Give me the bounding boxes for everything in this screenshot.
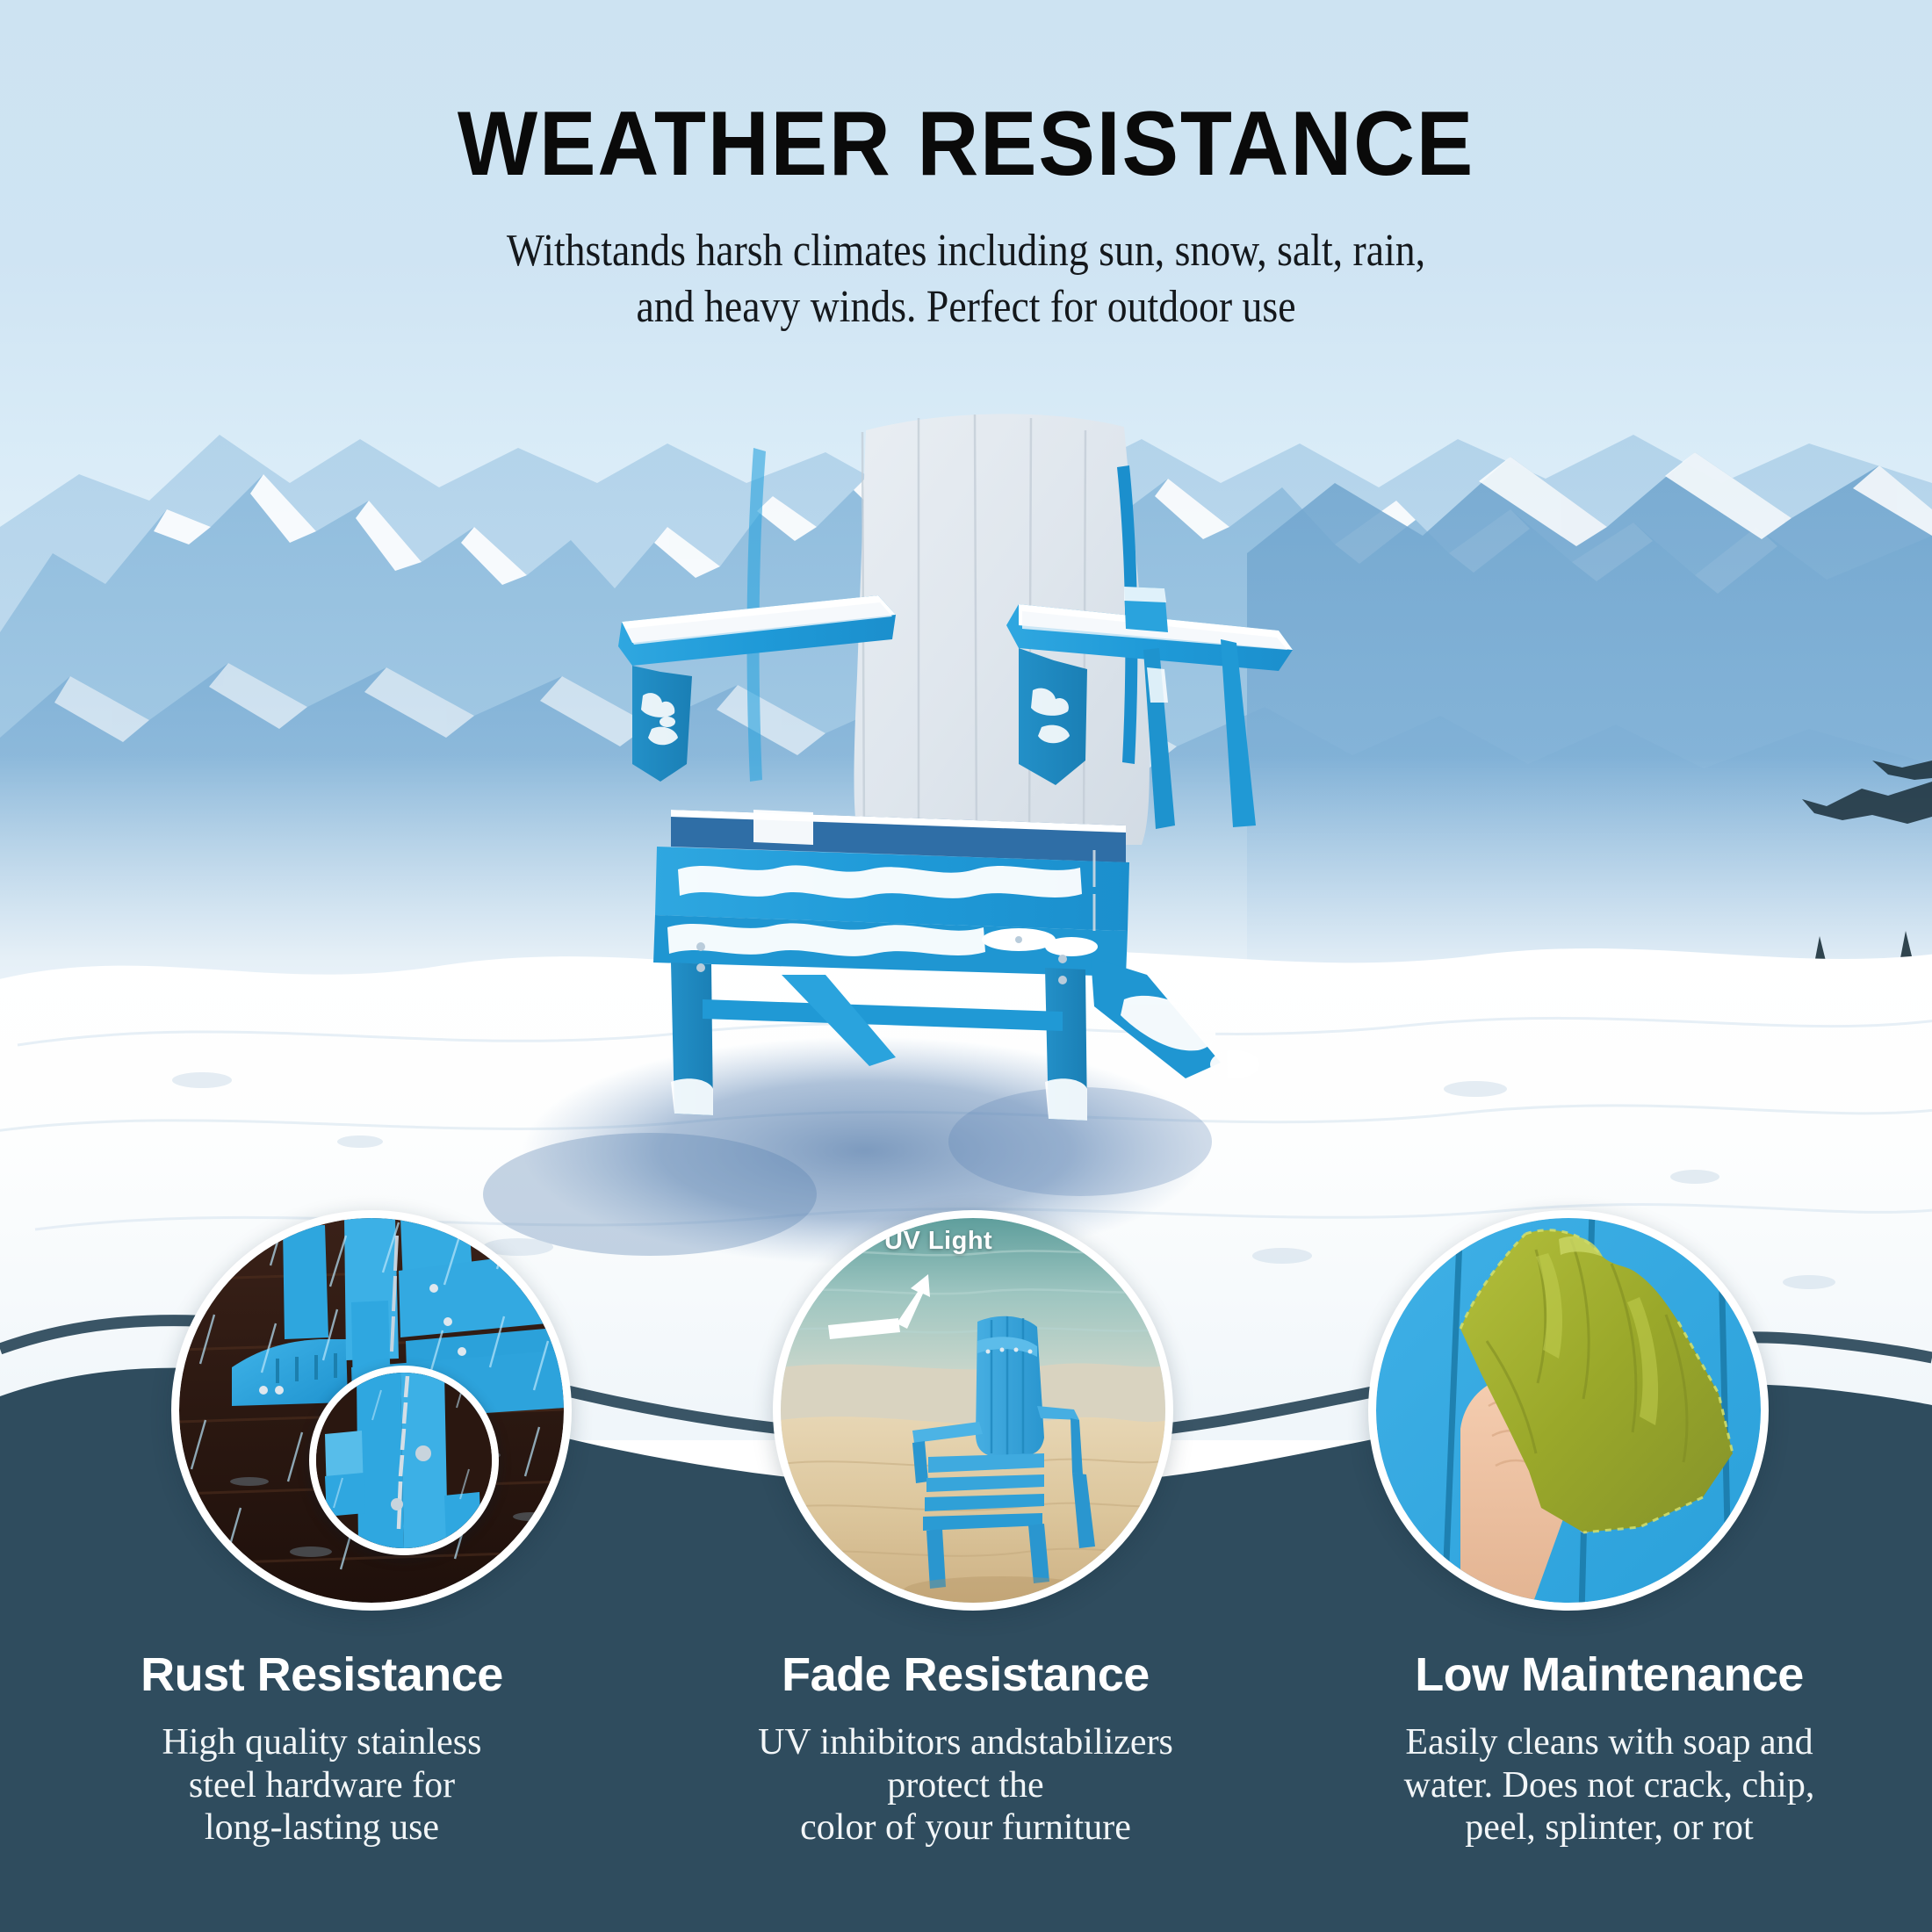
- feature-image-low-maintenance: [1368, 1210, 1769, 1611]
- header: WEATHER RESISTANCE Withstands harsh clim…: [0, 0, 1932, 336]
- feature-image-fade-resistance: UV Light: [773, 1210, 1173, 1611]
- feature-image-rust-resistance: [171, 1210, 572, 1611]
- weather-resistance-infographic: UV Light: [0, 0, 1932, 1932]
- feature-captions: Rust Resistance High quality stainless s…: [0, 1651, 1932, 1932]
- feature-heading: Low Maintenance: [1310, 1651, 1908, 1698]
- feature-heading: Rust Resistance: [23, 1651, 621, 1698]
- uv-arrow-icon: [823, 1272, 981, 1352]
- page-subtitle: Withstands harsh climates including sun,…: [116, 223, 1816, 336]
- feature-body: Easily cleans with soap and water. Does …: [1310, 1721, 1908, 1849]
- page-title: WEATHER RESISTANCE: [68, 98, 1864, 190]
- feature-body: UV inhibitors andstabilizers protect the…: [667, 1721, 1265, 1849]
- feature-caption-low-maintenance: Low Maintenance Easily cleans with soap …: [1287, 1651, 1931, 1932]
- feature-caption-fade-resistance: Fade Resistance UV inhibitors andstabili…: [644, 1651, 1287, 1932]
- uv-light-label: UV Light: [884, 1227, 992, 1256]
- feature-body: High quality stainless steel hardware fo…: [23, 1721, 621, 1849]
- feature-heading: Fade Resistance: [667, 1651, 1265, 1698]
- feature-caption-rust-resistance: Rust Resistance High quality stainless s…: [0, 1651, 644, 1932]
- inset-chain-closeup: [309, 1366, 499, 1555]
